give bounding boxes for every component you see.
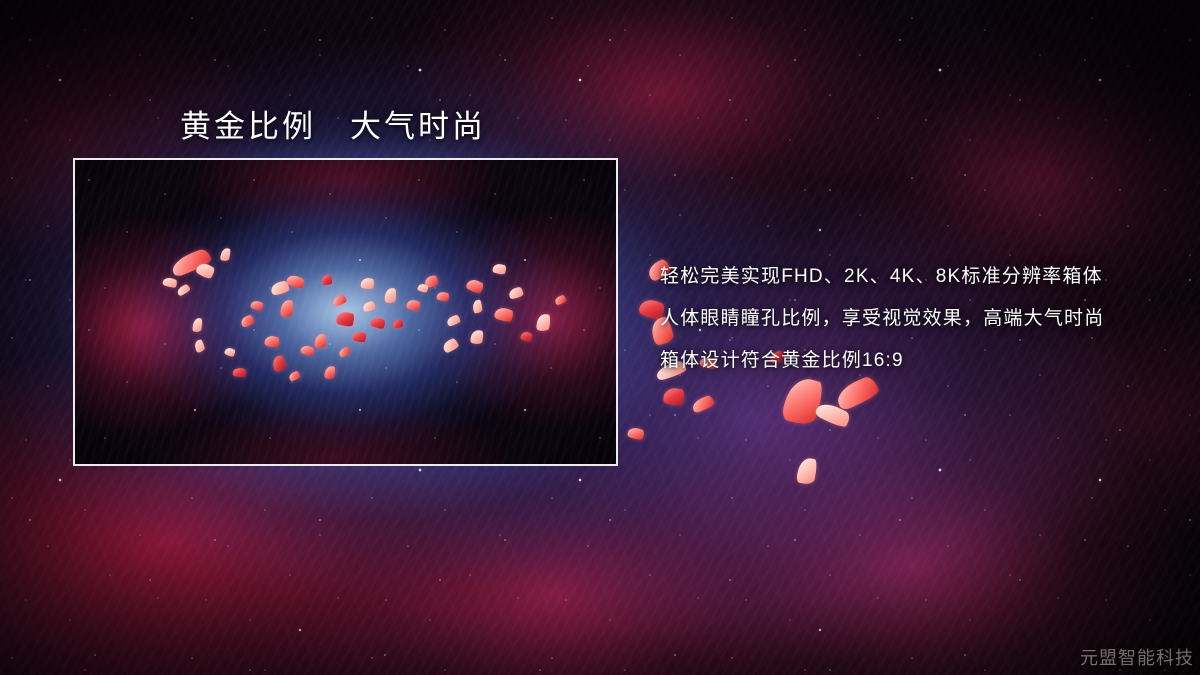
petal-shape	[280, 299, 294, 318]
petal-shape	[270, 280, 290, 295]
petal-shape	[322, 275, 332, 285]
petal-shape	[362, 301, 376, 313]
page-title: 黄金比例 大气时尚	[180, 101, 486, 146]
body-line-2: 人体眼睛瞳孔比例，享受视觉效果，高端大气时尚	[660, 298, 1180, 340]
petal-shape	[392, 319, 403, 329]
petal-shape	[332, 294, 347, 307]
petal-shape	[520, 330, 534, 342]
petal-shape	[352, 331, 367, 344]
petal-shape	[424, 275, 438, 288]
petal-shape	[360, 277, 375, 290]
petal-shape	[192, 317, 203, 332]
brand-watermark: 元盟智能科技	[1080, 644, 1194, 670]
petal-shape	[220, 247, 232, 262]
petal-shape	[335, 310, 355, 328]
body-text-block: 轻松完美实现FHD、2K、4K、8K标准分辨率箱体 人体眼睛瞳孔比例，享受视觉效…	[660, 256, 1180, 382]
petal-shape	[288, 370, 301, 381]
petal-shape	[417, 282, 429, 293]
petal-shape	[338, 346, 351, 358]
petal-shape	[272, 355, 287, 372]
petal-shape	[232, 367, 246, 378]
petal-shape	[384, 287, 397, 303]
image-frame-panel	[73, 158, 618, 466]
petal-shape	[194, 339, 206, 353]
body-line-3: 箱体设计符合黄金比例16:9	[660, 340, 1180, 382]
petal-shape	[324, 365, 336, 380]
petal-shape	[224, 346, 236, 358]
petal-shape	[300, 344, 315, 357]
petal-shape	[472, 300, 482, 314]
petal-shape	[470, 329, 484, 345]
petal-shape	[176, 283, 191, 296]
petal-shape	[406, 298, 421, 312]
petal-shape	[370, 316, 387, 330]
petal-shape	[285, 273, 305, 290]
petal-shape	[493, 306, 514, 324]
petal-shape	[162, 276, 178, 289]
petal-shape	[314, 333, 326, 348]
petal-shape	[240, 314, 255, 328]
petal-field-panel	[75, 160, 616, 464]
petal-shape	[536, 313, 551, 332]
petal-shape	[436, 291, 450, 303]
petal-shape	[508, 286, 524, 299]
petal-shape	[554, 294, 567, 305]
petal-shape	[492, 262, 507, 275]
petal-shape	[465, 277, 485, 295]
body-line-1: 轻松完美实现FHD、2K、4K、8K标准分辨率箱体	[660, 256, 1180, 298]
petal-shape	[264, 334, 280, 348]
petal-shape	[250, 299, 264, 312]
petal-shape	[441, 337, 459, 353]
slide-canvas: 黄金比例 大气时尚 轻松完美实现FHD、2K、4K、8K标准分辨率箱体 人体眼睛…	[0, 0, 1200, 675]
petal-shape	[195, 261, 216, 281]
petal-shape	[446, 314, 461, 327]
petal-shape	[169, 247, 212, 278]
